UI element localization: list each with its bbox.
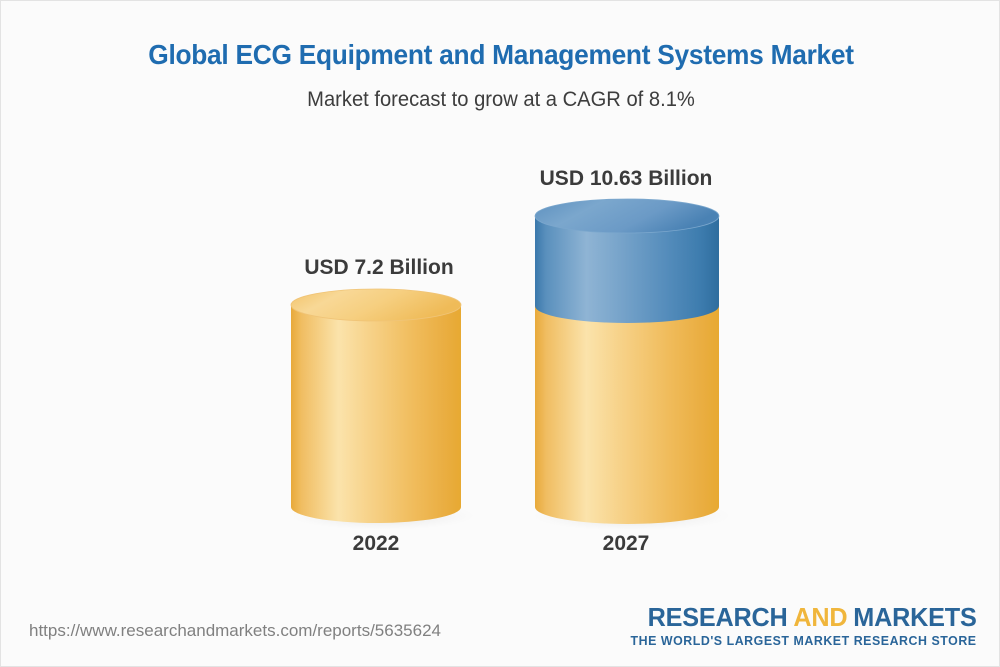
logo-word-and: AND [794,602,848,632]
bar-cylinder-2027 [522,194,737,534]
bar-cylinder-2022 [279,283,479,533]
chart-plot-area: USD 7.2 Billion 2022 [1,1,1000,601]
logo-word-markets: MARKETS [854,602,977,632]
report-url[interactable]: https://www.researchandmarkets.com/repor… [29,621,441,641]
research-and-markets-logo[interactable]: RESEARCHANDMARKETS THE WORLD'S LARGEST M… [627,604,977,648]
chart-canvas: Global ECG Equipment and Management Syst… [0,0,1000,667]
bar-category-label-2027: 2027 [476,532,776,556]
logo-tagline: THE WORLD'S LARGEST MARKET RESEARCH STOR… [631,635,977,648]
logo-wordmark: RESEARCHANDMARKETS [638,604,977,630]
logo-word-research: RESEARCH [648,602,788,632]
bar-value-label-2027: USD 10.63 Billion [476,167,776,191]
bar-value-label-2022: USD 7.2 Billion [229,256,529,280]
